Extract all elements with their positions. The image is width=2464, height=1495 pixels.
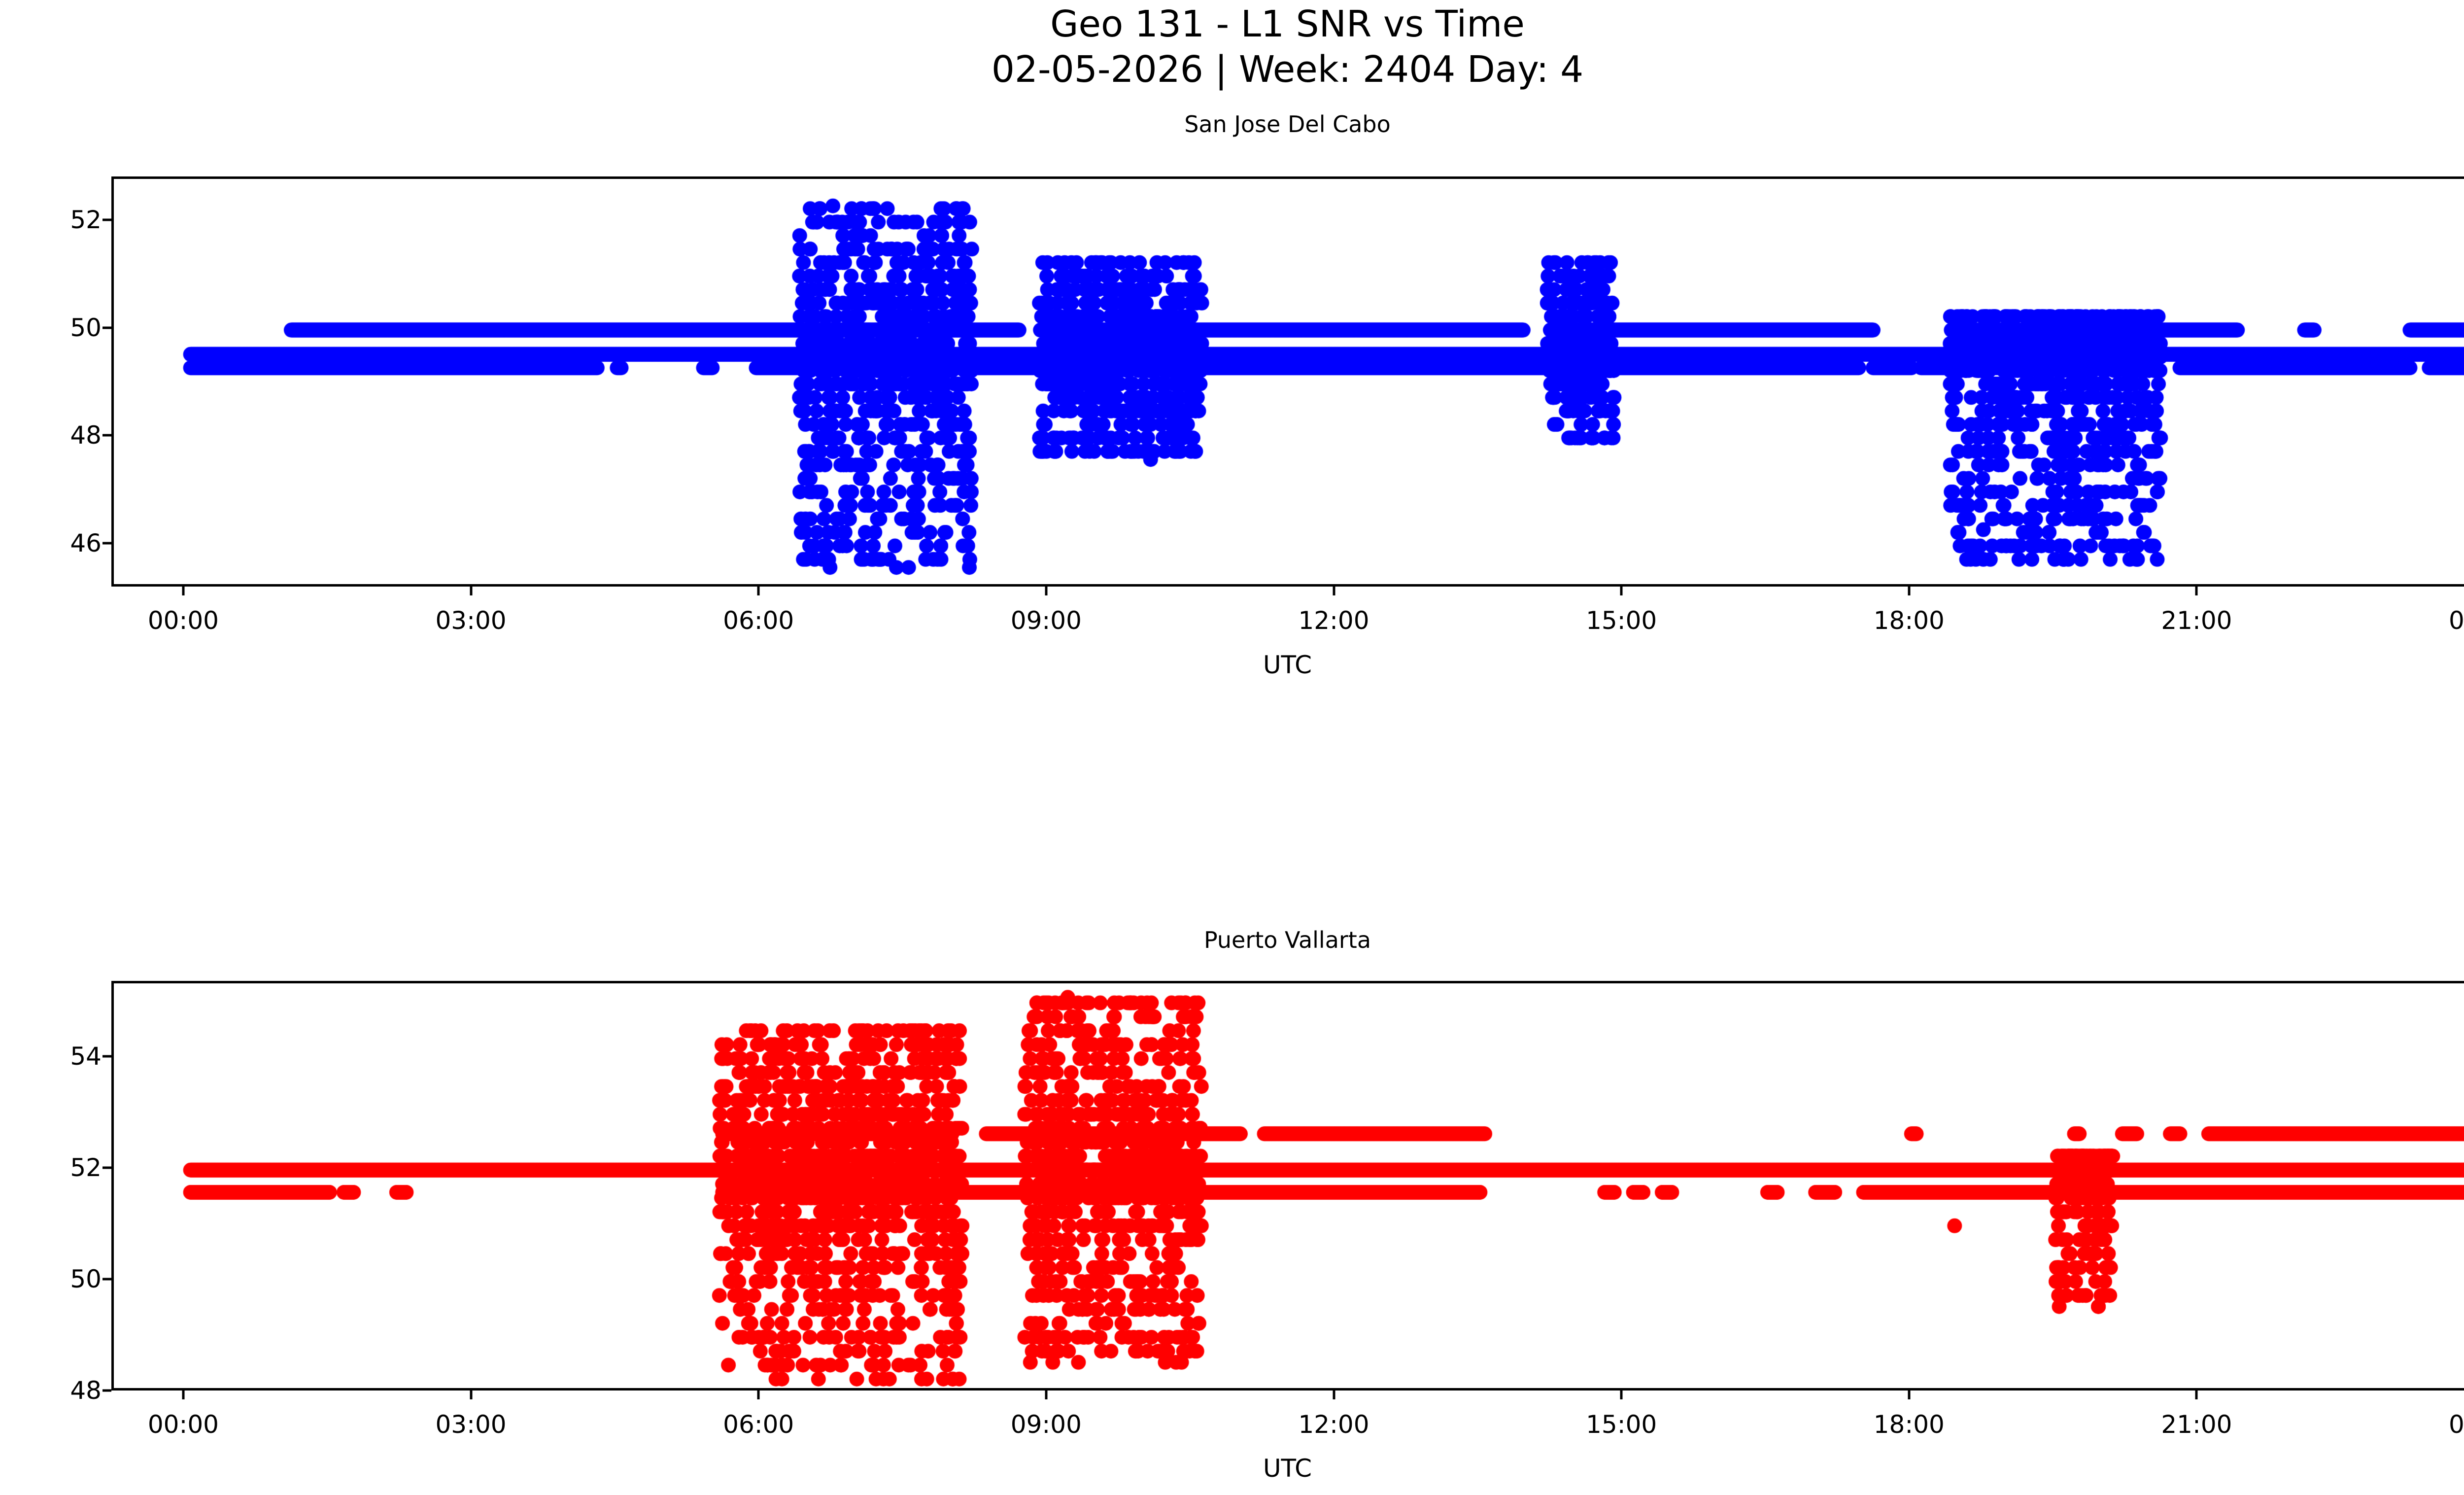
y-tick-mark <box>103 1166 111 1169</box>
x-tick-label: 12:00 <box>1298 1410 1369 1439</box>
x-tick-mark <box>470 1391 472 1399</box>
axes-title-1: Puerto Vallarta <box>0 927 2464 953</box>
x-tick-label: 00:00 <box>2449 1410 2464 1439</box>
x-tick-mark <box>1045 1391 1047 1399</box>
x-tick-label: 03:00 <box>436 1410 507 1439</box>
x-tick-label: 21:00 <box>2161 1410 2232 1439</box>
x-tick-mark <box>757 1391 760 1399</box>
y-tick-label: 54 <box>47 1042 102 1071</box>
x-axis-label-1: UTC <box>0 1454 2464 1483</box>
y-tick-label: 50 <box>47 1265 102 1293</box>
x-tick-mark <box>2195 1391 2198 1399</box>
x-tick-mark <box>182 1391 184 1399</box>
x-tick-label: 15:00 <box>1586 1410 1657 1439</box>
x-tick-label: 00:00 <box>148 1410 219 1439</box>
plot-area-1 <box>111 981 2464 1391</box>
x-tick-mark <box>1333 1391 1335 1399</box>
y-tick-label: 52 <box>47 1153 102 1182</box>
y-tick-mark <box>103 1278 111 1280</box>
x-tick-label: 09:00 <box>1011 1410 1082 1439</box>
x-tick-mark <box>1908 1391 1910 1399</box>
y-tick-mark <box>103 1390 111 1392</box>
x-tick-label: 06:00 <box>723 1410 794 1439</box>
scatter-points-1 <box>114 983 2464 1391</box>
x-tick-label: 18:00 <box>1874 1410 1945 1439</box>
y-tick-label: 48 <box>47 1376 102 1405</box>
x-tick-mark <box>1620 1391 1623 1399</box>
y-tick-mark <box>103 1055 111 1057</box>
panel-puerto-vallarta: Puerto Vallarta L1_SNR 48505254 00:0003:… <box>0 0 2464 1495</box>
figure-canvas: Geo 131 - L1 SNR vs Time 02-05-2026 | We… <box>0 0 2464 1495</box>
